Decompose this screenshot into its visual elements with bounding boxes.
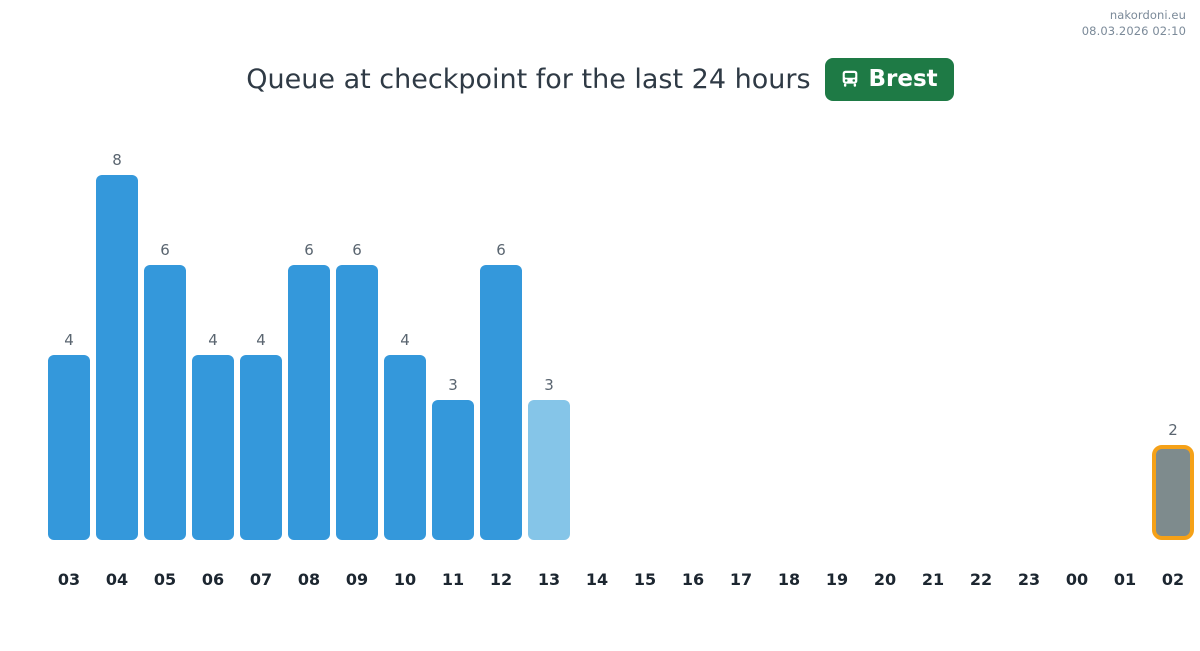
bar-value-label: 6: [480, 241, 522, 259]
x-axis-tick: 23: [1008, 570, 1050, 600]
bar[interactable]: [48, 355, 90, 540]
plot-area: 486446643632: [0, 120, 1200, 540]
bar-column[interactable]: [1104, 127, 1146, 540]
x-axis-tick: 01: [1104, 570, 1146, 600]
x-axis-tick: 16: [672, 570, 714, 600]
bar[interactable]: [384, 355, 426, 540]
x-axis-tick: 10: [384, 570, 426, 600]
bar-column[interactable]: [864, 127, 906, 540]
bar-value-label: 4: [384, 331, 426, 349]
badge-label: Brest: [869, 66, 938, 92]
bar-column[interactable]: [816, 127, 858, 540]
bar-column[interactable]: [576, 127, 618, 540]
bar-column[interactable]: [1056, 127, 1098, 540]
x-axis-tick: 13: [528, 570, 570, 600]
page-title: Queue at checkpoint for the last 24 hour…: [246, 64, 810, 95]
x-axis-tick: 12: [480, 570, 522, 600]
bar[interactable]: [144, 265, 186, 540]
x-axis-tick: 05: [144, 570, 186, 600]
bar-value-label: 4: [240, 331, 282, 349]
bar-value-label: 4: [192, 331, 234, 349]
bar[interactable]: [288, 265, 330, 540]
bar[interactable]: [528, 400, 570, 540]
checkpoint-badge[interactable]: Brest: [825, 58, 954, 101]
bar[interactable]: [1152, 445, 1194, 540]
bar-column[interactable]: 6: [336, 127, 378, 540]
bar-column[interactable]: 3: [432, 127, 474, 540]
bar-column[interactable]: 4: [384, 127, 426, 540]
watermark: nakordoni.eu 08.03.2026 02:10: [1082, 8, 1186, 39]
bar-value-label: 8: [96, 151, 138, 169]
bar-column[interactable]: [768, 127, 810, 540]
x-axis-tick: 21: [912, 570, 954, 600]
bar-column[interactable]: 6: [480, 127, 522, 540]
bar-column[interactable]: [672, 127, 714, 540]
bar-column[interactable]: [912, 127, 954, 540]
bar-column[interactable]: 3: [528, 127, 570, 540]
x-axis-tick: 22: [960, 570, 1002, 600]
x-axis-tick: 08: [288, 570, 330, 600]
bar-column[interactable]: 6: [288, 127, 330, 540]
bar-column[interactable]: [960, 127, 1002, 540]
x-axis: 0304050607080910111213141516171819202122…: [48, 570, 1200, 600]
bar-column[interactable]: 8: [96, 127, 138, 540]
bar-column[interactable]: [624, 127, 666, 540]
bar-value-label: 6: [288, 241, 330, 259]
bar-value-label: 4: [48, 331, 90, 349]
title-row: Queue at checkpoint for the last 24 hour…: [0, 58, 1200, 101]
bar-value-label: 2: [1152, 421, 1194, 439]
x-axis-tick: 17: [720, 570, 762, 600]
bar-column[interactable]: 4: [192, 127, 234, 540]
x-axis-tick: 00: [1056, 570, 1098, 600]
bar[interactable]: [192, 355, 234, 540]
bar[interactable]: [336, 265, 378, 540]
bar-column[interactable]: [720, 127, 762, 540]
x-axis-tick: 18: [768, 570, 810, 600]
bar-value-label: 6: [144, 241, 186, 259]
watermark-site: nakordoni.eu: [1082, 8, 1186, 24]
x-axis-tick: 14: [576, 570, 618, 600]
x-axis-tick: 11: [432, 570, 474, 600]
bar[interactable]: [96, 175, 138, 540]
bar-column[interactable]: 6: [144, 127, 186, 540]
x-axis-tick: 04: [96, 570, 138, 600]
x-axis-tick: 02: [1152, 570, 1194, 600]
bar-column[interactable]: 2: [1152, 127, 1194, 540]
bar[interactable]: [432, 400, 474, 540]
bar-value-label: 3: [528, 376, 570, 394]
bar-column[interactable]: 4: [240, 127, 282, 540]
bar[interactable]: [480, 265, 522, 540]
bar-column[interactable]: [1008, 127, 1050, 540]
bar[interactable]: [240, 355, 282, 540]
bus-icon: [839, 68, 861, 90]
x-axis-tick: 07: [240, 570, 282, 600]
bar-column[interactable]: 4: [48, 127, 90, 540]
x-axis-tick: 06: [192, 570, 234, 600]
bar-value-label: 3: [432, 376, 474, 394]
bar-value-label: 6: [336, 241, 378, 259]
bar-series: 486446643632: [48, 127, 1200, 540]
chart-page: nakordoni.eu 08.03.2026 02:10 Queue at c…: [0, 0, 1200, 651]
x-axis-tick: 15: [624, 570, 666, 600]
x-axis-tick: 19: [816, 570, 858, 600]
x-axis-tick: 20: [864, 570, 906, 600]
x-axis-tick: 09: [336, 570, 378, 600]
watermark-timestamp: 08.03.2026 02:10: [1082, 24, 1186, 40]
x-axis-tick: 03: [48, 570, 90, 600]
